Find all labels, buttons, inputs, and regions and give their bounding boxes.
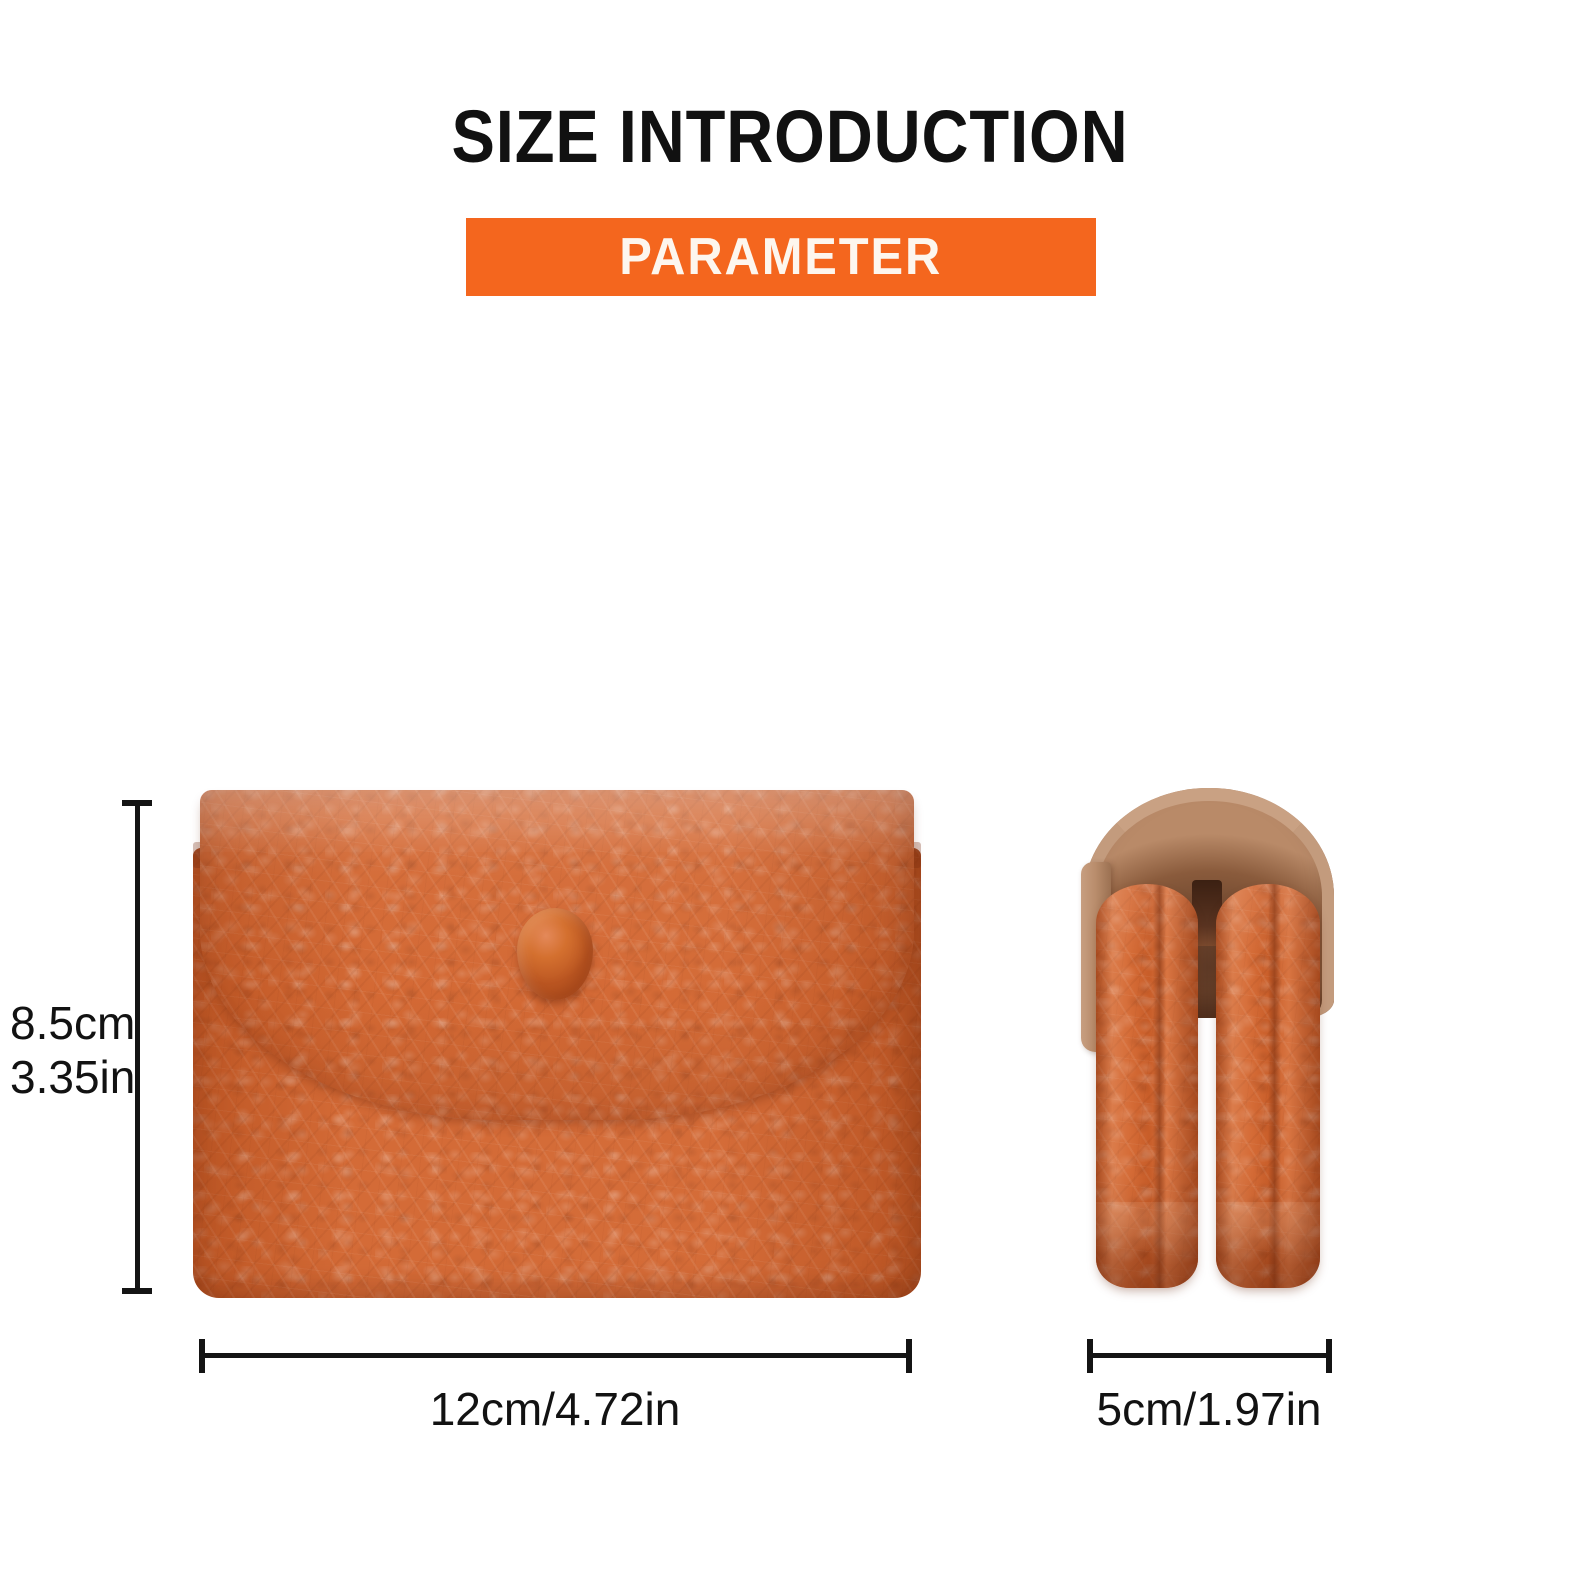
height-dimension-label: 8.5cm 3.35in <box>10 996 135 1104</box>
product-side-view <box>1080 788 1338 1300</box>
page-title: SIZE INTRODUCTION <box>95 100 1485 174</box>
depth-dimension-label: 5cm/1.97in <box>1058 1382 1360 1436</box>
width-dimension-tick-left <box>199 1339 205 1373</box>
parameter-banner-label: PARAMETER <box>620 227 943 287</box>
width-dimension-label: 12cm/4.72in <box>200 1382 910 1436</box>
width-dimension-tick-right <box>906 1339 912 1373</box>
product-front-view <box>193 790 921 1298</box>
depth-dimension-line <box>1088 1353 1332 1358</box>
height-dimension-line <box>135 800 140 1294</box>
size-introduction-page: SIZE INTRODUCTION PARAMETER <box>0 0 1580 1580</box>
side-gusset-left-bottom-pinch <box>1096 1202 1198 1288</box>
side-gusset-right <box>1216 884 1320 1288</box>
parameter-banner: PARAMETER <box>466 218 1096 296</box>
depth-dimension-tick-right <box>1326 1339 1332 1373</box>
width-dimension-line <box>200 1353 912 1358</box>
side-gusset-right-bottom-pinch <box>1216 1202 1320 1288</box>
height-dimension-label-in: 3.35in <box>10 1050 135 1104</box>
height-dimension-label-cm: 8.5cm <box>10 996 135 1050</box>
height-dimension-tick-top <box>122 800 152 806</box>
depth-dimension-tick-left <box>1087 1339 1093 1373</box>
height-dimension-tick-bottom <box>122 1288 152 1294</box>
side-gusset-left <box>1096 884 1198 1288</box>
